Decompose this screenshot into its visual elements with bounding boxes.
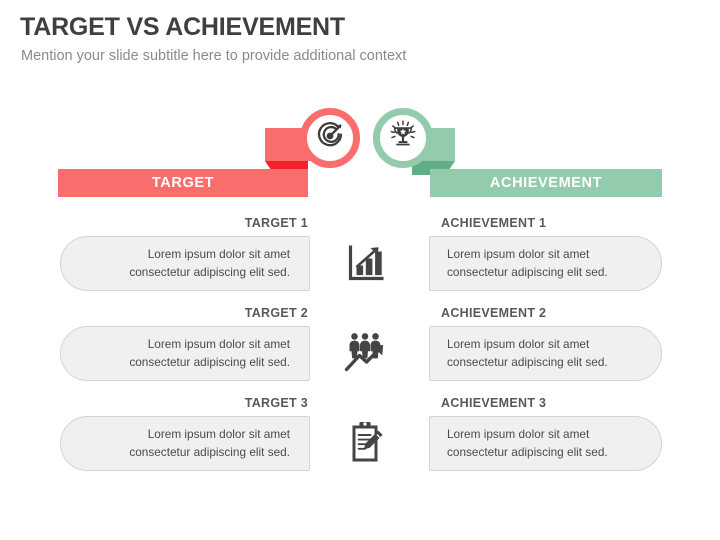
comparison-row: TARGET 2 Lorem ipsum dolor sit amet cons…: [0, 306, 720, 391]
target-row-label: TARGET 2: [245, 306, 308, 320]
target-bullseye-icon: [314, 120, 346, 157]
achievement-text-box[interactable]: Lorem ipsum dolor sit amet consectetur a…: [429, 416, 662, 471]
page-title: TARGET VS ACHIEVEMENT: [20, 13, 345, 42]
row-icon: [335, 413, 397, 475]
achievement-row-label: ACHIEVEMENT 2: [441, 306, 546, 320]
target-text-box[interactable]: Lorem ipsum dolor sit amet consectetur a…: [60, 326, 310, 381]
achievement-row-label: ACHIEVEMENT 3: [441, 396, 546, 410]
target-ribbon-bar[interactable]: TARGET: [58, 169, 308, 197]
team-growth-icon: [344, 331, 388, 378]
achievement-ribbon-bar[interactable]: ACHIEVEMENT: [430, 169, 662, 197]
bar-chart-growth-icon: [346, 242, 386, 287]
target-text-box[interactable]: Lorem ipsum dolor sit amet consectetur a…: [60, 416, 310, 471]
comparison-row: TARGET 3 Lorem ipsum dolor sit amet cons…: [0, 396, 720, 481]
target-row-label: TARGET 1: [245, 216, 308, 230]
row-icon: [335, 323, 397, 385]
row-icon: [335, 233, 397, 295]
target-ribbon-label: TARGET: [152, 175, 214, 191]
achievement-badge[interactable]: [373, 108, 433, 168]
comparison-row: TARGET 1 Lorem ipsum dolor sit amet cons…: [0, 216, 720, 301]
trophy-icon: [386, 119, 420, 158]
page-subtitle: Mention your slide subtitle here to prov…: [21, 48, 406, 64]
target-badge[interactable]: [300, 108, 360, 168]
clipboard-pencil-icon: [346, 420, 386, 469]
achievement-text-box[interactable]: Lorem ipsum dolor sit amet consectetur a…: [429, 326, 662, 381]
target-row-label: TARGET 3: [245, 396, 308, 410]
achievement-row-label: ACHIEVEMENT 1: [441, 216, 546, 230]
ribbon-band: TARGET ACHIEVEMENT: [0, 105, 720, 200]
achievement-ribbon-label: ACHIEVEMENT: [490, 175, 602, 191]
target-text-box[interactable]: Lorem ipsum dolor sit amet consectetur a…: [60, 236, 310, 291]
achievement-text-box[interactable]: Lorem ipsum dolor sit amet consectetur a…: [429, 236, 662, 291]
